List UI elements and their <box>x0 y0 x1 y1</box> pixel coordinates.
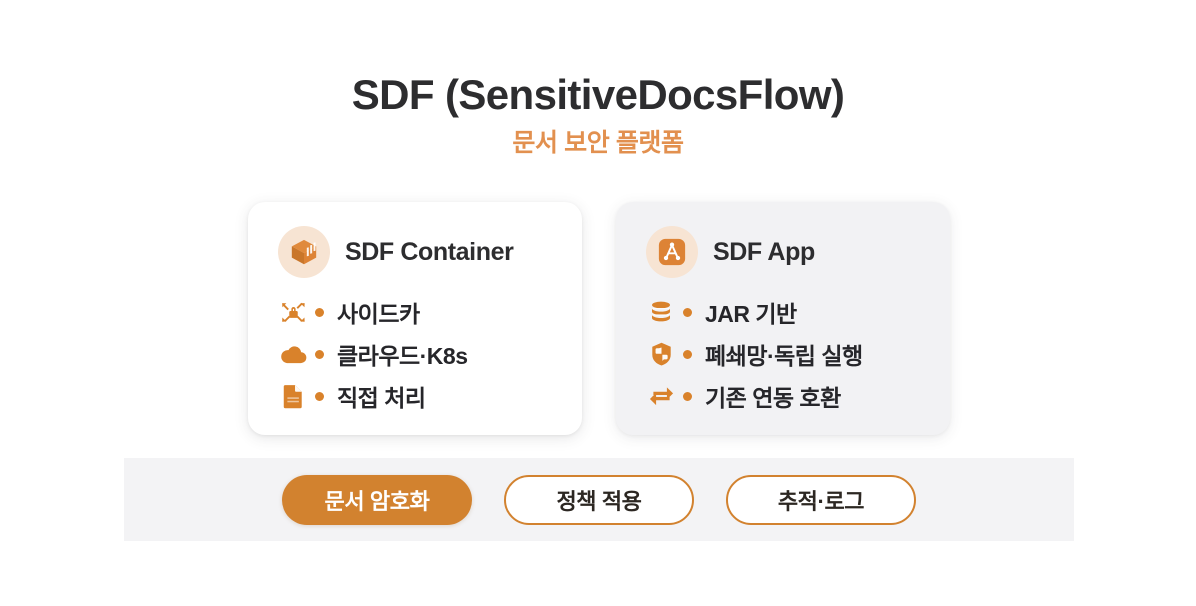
card-sdf-container[interactable]: SDF Container <box>248 202 582 435</box>
shield-icon <box>646 340 676 368</box>
card-row: SDF Container <box>248 202 950 435</box>
feature-item[interactable]: 직접 처리 <box>278 375 582 417</box>
bullet-dot <box>683 392 692 401</box>
capability-bar: 문서 암호화 정책 적용 추적·로그 <box>124 458 1074 541</box>
document-icon <box>278 382 308 410</box>
feature-item[interactable]: JAR 기반 <box>646 291 950 333</box>
card-title: SDF App <box>713 238 815 267</box>
feature-item[interactable]: 폐쇄망·독립 실행 <box>646 333 950 375</box>
feature-list: JAR 기반 폐쇄망·독립 실행 <box>646 291 950 417</box>
feature-label: JAR 기반 <box>705 295 797 329</box>
card-sdf-app[interactable]: SDF App <box>616 202 950 435</box>
feature-label: 클라우드·K8s <box>337 337 468 371</box>
feature-item[interactable]: 클라우드·K8s <box>278 333 582 375</box>
bullet-dot <box>683 308 692 317</box>
network-lock-icon <box>278 298 308 326</box>
card-header: SDF App <box>646 226 950 278</box>
bullet-dot <box>315 392 324 401</box>
card-title: SDF Container <box>345 238 513 267</box>
feature-item[interactable]: 사이드카 <box>278 291 582 333</box>
feature-label: 직접 처리 <box>337 379 426 413</box>
feature-label: 사이드카 <box>337 295 420 329</box>
page-subtitle: 문서 보안 플랫폼 <box>0 130 1196 158</box>
bullet-dot <box>683 350 692 359</box>
database-icon <box>646 298 676 326</box>
pill-document-encryption[interactable]: 문서 암호화 <box>282 475 472 525</box>
pill-audit-log[interactable]: 추적·로그 <box>726 475 916 525</box>
infographic-stage: SDF (SensitiveDocsFlow) 문서 보안 플랫폼 SDF Co… <box>0 0 1196 606</box>
pill-policy-apply[interactable]: 정책 적용 <box>504 475 694 525</box>
feature-item[interactable]: 기존 연동 호환 <box>646 375 950 417</box>
cloud-icon <box>278 340 308 368</box>
page-title: SDF (SensitiveDocsFlow) <box>0 72 1196 118</box>
bullet-dot <box>315 308 324 317</box>
feature-label: 폐쇄망·독립 실행 <box>705 337 863 371</box>
feature-list: 사이드카 클라우드·K8s <box>278 291 582 417</box>
feature-label: 기존 연동 호환 <box>705 379 841 413</box>
card-header: SDF Container <box>278 226 582 278</box>
app-node-icon <box>646 226 698 278</box>
container-box-icon <box>278 226 330 278</box>
header: SDF (SensitiveDocsFlow) 문서 보안 플랫폼 <box>0 72 1196 158</box>
bullet-dot <box>315 350 324 359</box>
sync-arrows-icon <box>646 382 676 410</box>
